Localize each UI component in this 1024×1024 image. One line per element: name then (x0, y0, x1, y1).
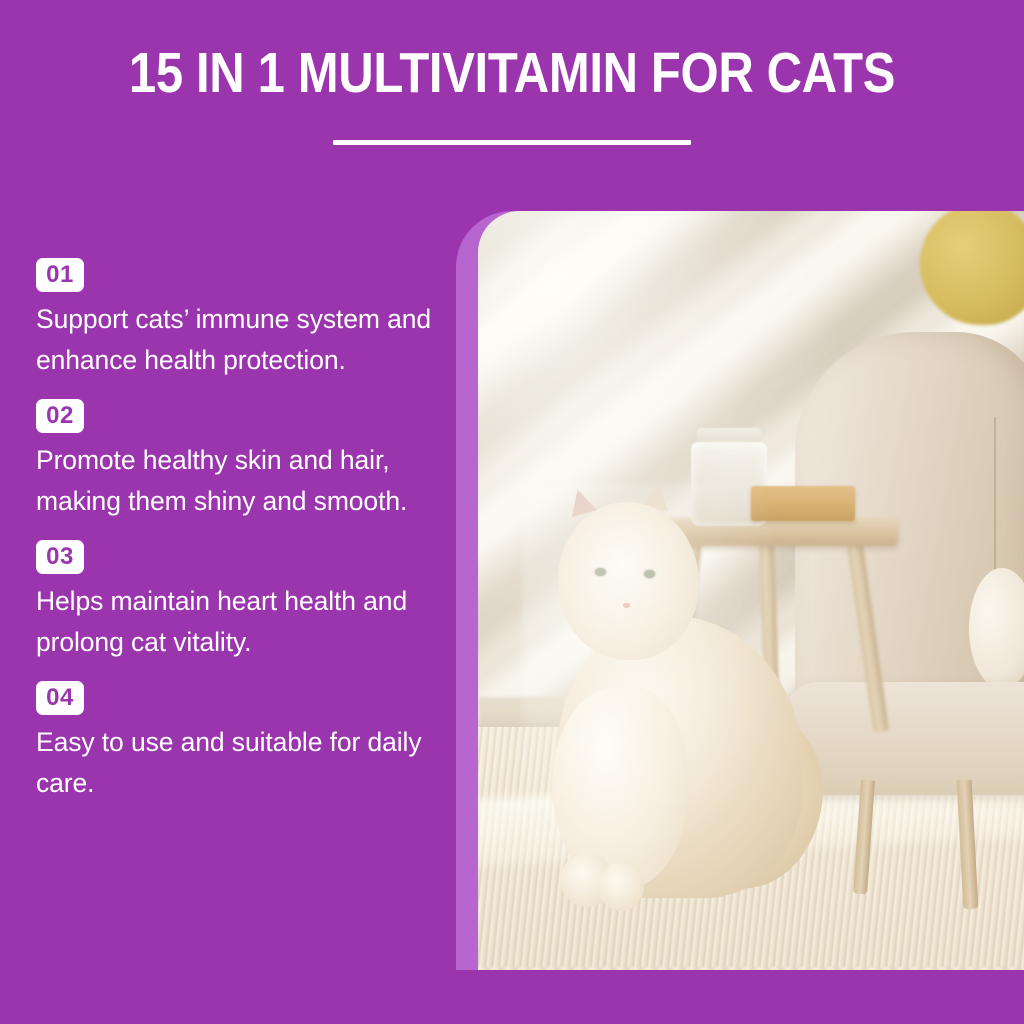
feature-number-badge: 01 (36, 258, 84, 292)
cat-fur-highlight (522, 484, 828, 924)
photo-scene (478, 211, 1024, 970)
feature-item-03: 03 Helps maintain heart health and prolo… (36, 540, 446, 663)
feature-number-badge: 02 (36, 399, 84, 433)
product-feature-poster: 15 IN 1 MULTIVITAMIN FOR CATS 01 Support… (0, 0, 1024, 1024)
title-block: 15 IN 1 MULTIVITAMIN FOR CATS (0, 44, 1024, 145)
feature-item-01: 01 Support cats’ immune system and enhan… (36, 258, 446, 381)
feature-text: Promote healthy skin and hair, making th… (36, 440, 444, 522)
title-divider (333, 140, 691, 145)
feature-text: Helps maintain heart health and prolong … (36, 581, 444, 663)
feature-item-04: 04 Easy to use and suitable for daily ca… (36, 681, 446, 804)
feature-list: 01 Support cats’ immune system and enhan… (36, 258, 446, 804)
cat-lifestyle-photo (478, 211, 1024, 970)
page-title: 15 IN 1 MULTIVITAMIN FOR CATS (72, 44, 953, 104)
bolster-pillow (969, 568, 1024, 689)
feature-item-02: 02 Promote healthy skin and hair, making… (36, 399, 446, 522)
rug-fringe (478, 967, 1024, 970)
cat (522, 484, 828, 924)
product-photo-panel (456, 211, 1024, 970)
feature-text: Easy to use and suitable for daily care. (36, 722, 444, 804)
feature-number-badge: 04 (36, 681, 84, 715)
feature-number-badge: 03 (36, 540, 84, 574)
feature-text: Support cats’ immune system and enhance … (36, 299, 444, 381)
